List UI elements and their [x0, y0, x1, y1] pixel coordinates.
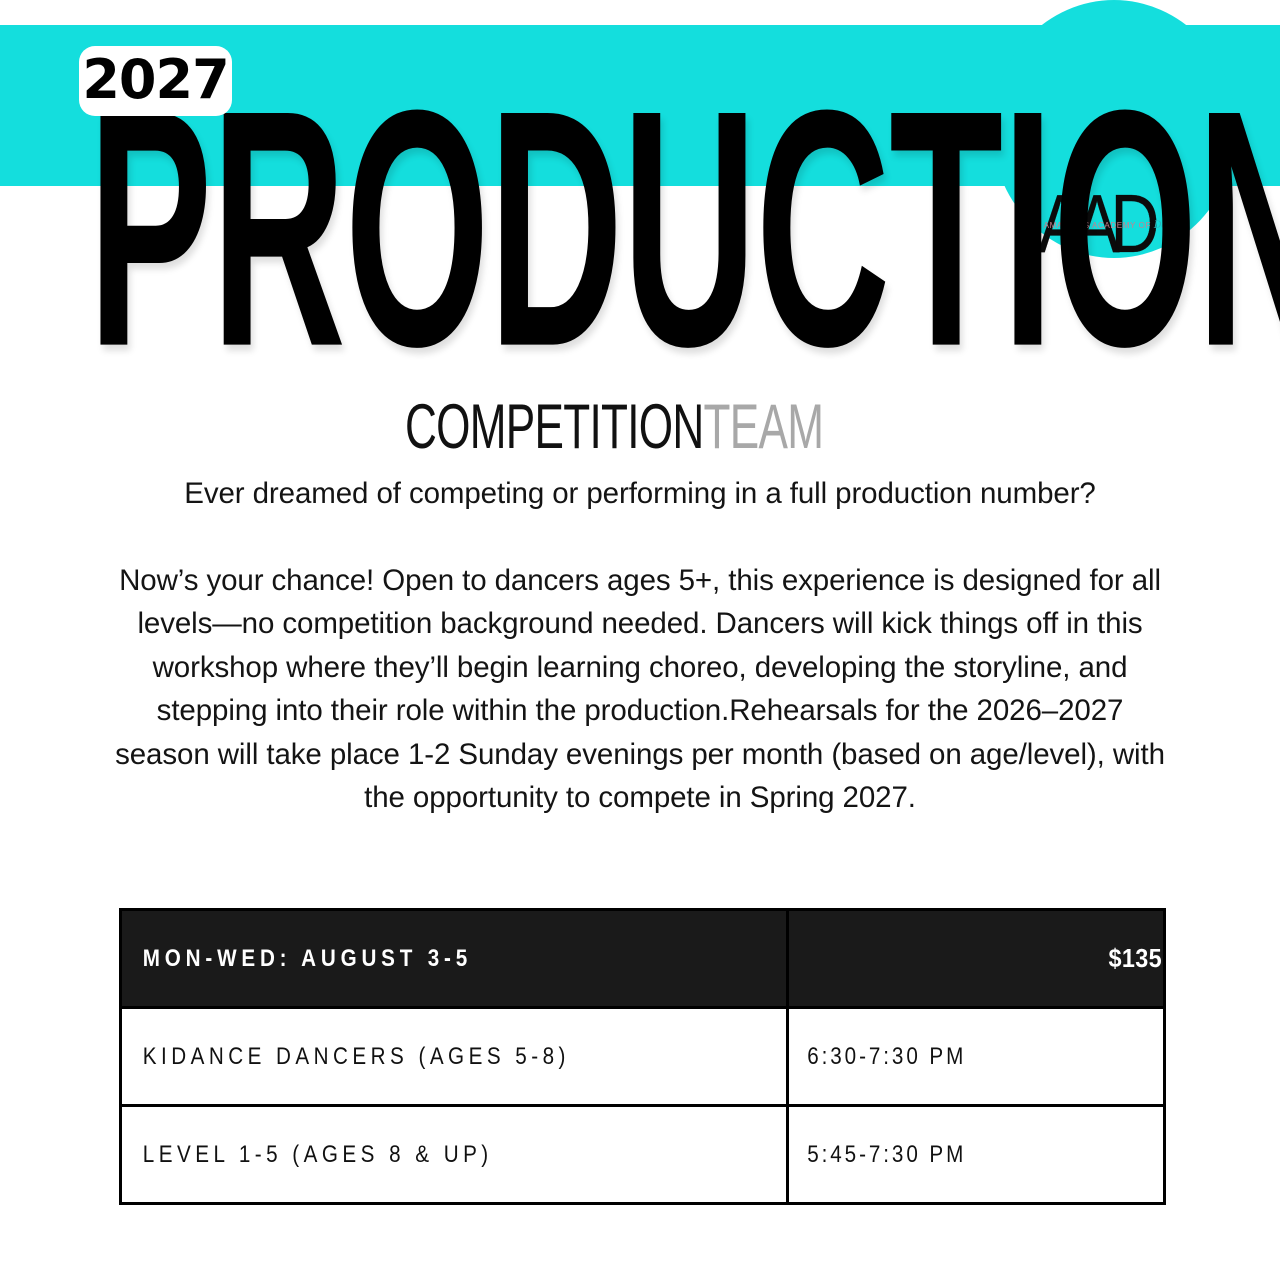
subtitle-team: TEAM [704, 392, 824, 462]
schedule-price-label: $135 [827, 943, 1162, 974]
description-paragraph: Now’s your chance! Open to dancers ages … [108, 559, 1172, 820]
page-title: PRODUCTION [88, 60, 1280, 397]
schedule-time-cell: 5:45-7:30 PM [788, 1106, 1165, 1204]
schedule-header-row: MON-WED: AUGUST 3-5 $135 [121, 910, 1165, 1008]
schedule-group-label: LEVEL 1-5 (AGES 8 & UP) [123, 1141, 692, 1169]
schedule-dates-cell: MON-WED: AUGUST 3-5 [121, 910, 788, 1008]
year-badge-label: 2027 [82, 53, 228, 107]
table-row: KIDANCE DANCERS (AGES 5-8) 6:30-7:30 PM [121, 1008, 1165, 1106]
schedule-price-cell: $135 [788, 910, 1165, 1008]
schedule-time-label: 6:30-7:30 PM [790, 1043, 1110, 1071]
table-row: LEVEL 1-5 (AGES 8 & UP) 5:45-7:30 PM [121, 1106, 1165, 1204]
schedule-table: MON-WED: AUGUST 3-5 $135 KIDANCE DANCERS… [119, 908, 1166, 1205]
year-badge: 2027 [79, 46, 232, 116]
schedule-group-cell: LEVEL 1-5 (AGES 8 & UP) [121, 1106, 788, 1204]
subtitle-competition: COMPETITION [405, 392, 704, 462]
schedule-group-cell: KIDANCE DANCERS (AGES 5-8) [121, 1008, 788, 1106]
schedule-time-cell: 6:30-7:30 PM [788, 1008, 1165, 1106]
schedule-dates-label: MON-WED: AUGUST 3-5 [123, 945, 692, 973]
poster-header: AAD AMANDA'S ACADEMY OF Dance 2027 PRODU… [0, 0, 1280, 300]
page-subtitle: COMPETITIONTEAM [405, 396, 823, 459]
lead-question: Ever dreamed of competing or performing … [108, 472, 1172, 516]
schedule-group-label: KIDANCE DANCERS (AGES 5-8) [123, 1043, 692, 1071]
schedule-time-label: 5:45-7:30 PM [790, 1141, 1110, 1169]
description-block: Ever dreamed of competing or performing … [108, 472, 1172, 820]
